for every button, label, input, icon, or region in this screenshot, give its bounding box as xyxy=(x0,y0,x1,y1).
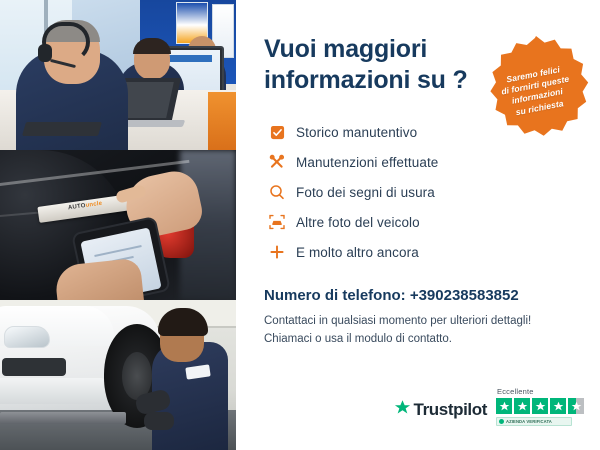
plus-icon xyxy=(264,244,290,260)
star-half xyxy=(568,398,584,414)
page-title: Vuoi maggiori informazioni su ? xyxy=(264,34,484,95)
contact-description: Contattaci in qualsiasi momento per ulte… xyxy=(264,313,578,349)
star-filled xyxy=(496,398,512,414)
star-filled xyxy=(550,398,566,414)
photo-paint-measurement: AUTOuncle xyxy=(0,150,236,300)
car-photo-frame-icon xyxy=(264,214,290,230)
trustpilot-widget[interactable]: Trustpilot Eccellente xyxy=(394,387,584,426)
trustpilot-star-icon xyxy=(394,399,411,421)
feature-item-foto-segni-usura: Foto dei segni di usura xyxy=(264,177,578,207)
verified-company-badge: AZIENDA VERIFICATA xyxy=(496,417,572,426)
trustpilot-logo[interactable]: Trustpilot xyxy=(394,399,487,421)
star-filled xyxy=(532,398,548,414)
car-bumper xyxy=(0,378,110,404)
feature-label: Altre foto del veicolo xyxy=(296,215,420,230)
callout-badge: Saremo felici di fornirti queste informa… xyxy=(480,34,592,146)
badge-text: Saremo felici di fornirti queste informa… xyxy=(498,63,574,120)
star-filled xyxy=(514,398,530,414)
keyboard xyxy=(22,122,102,136)
trustpilot-rating-label: Eccellente xyxy=(497,387,534,396)
trustpilot-name: Trustpilot xyxy=(414,400,487,420)
orange-object xyxy=(208,92,236,150)
trustpilot-rating: Eccellente xyxy=(496,387,584,426)
content-panel: Vuoi maggiori informazioni su ? Storico … xyxy=(236,0,600,450)
feature-item-manutenzioni-effettuate: Manutenzioni effettuate xyxy=(264,147,578,177)
feature-label: Manutenzioni effettuate xyxy=(296,155,438,170)
checkbox-checked-icon xyxy=(264,125,290,140)
trustpilot-stars xyxy=(496,398,584,414)
feature-label: Storico manutentivo xyxy=(296,125,417,140)
mechanic-glove-lower xyxy=(144,412,174,430)
photo-column: AUTOuncle xyxy=(0,0,236,450)
promo-banner: AUTOuncle xyxy=(0,0,600,450)
feature-item-molto-altro: E molto altro ancora xyxy=(264,237,578,267)
car-lift-arm xyxy=(0,412,126,424)
car-headlight xyxy=(4,326,50,348)
contact-line-1: Contattaci in qualsiasi momento per ulte… xyxy=(264,313,578,331)
photo-mechanic-inspection xyxy=(0,300,236,450)
phone-number-label: Numero di telefono: +390238583852 xyxy=(264,287,578,304)
feature-item-altre-foto-veicolo: Altre foto del veicolo xyxy=(264,207,578,237)
tools-cross-icon xyxy=(264,154,290,170)
magnifier-icon xyxy=(264,184,290,200)
feature-label: Foto dei segni di usura xyxy=(296,185,435,200)
verified-check-icon xyxy=(499,419,504,424)
verified-label: AZIENDA VERIFICATA xyxy=(506,419,552,424)
car-grille xyxy=(2,358,66,376)
photo-call-center-agents xyxy=(0,0,236,150)
contact-line-2: Chiamaci o usa il modulo di contatto. xyxy=(264,331,578,349)
feature-label: E molto altro ancora xyxy=(296,245,419,260)
